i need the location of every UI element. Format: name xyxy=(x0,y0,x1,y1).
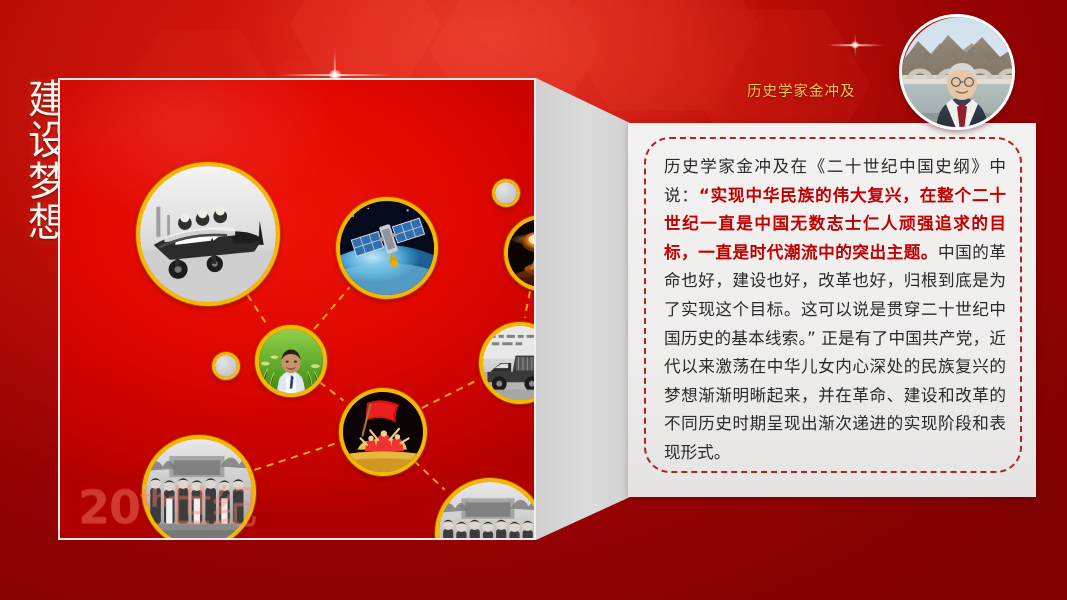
node-decor-dot-left[interactable] xyxy=(212,352,240,380)
node-nuclear-test-photo-image xyxy=(508,219,536,287)
watermark-chinese: 世纪 xyxy=(167,480,257,534)
century-watermark: 20th世纪 xyxy=(78,484,257,530)
node-group-photo-right[interactable] xyxy=(435,478,536,540)
node-satellite-photo[interactable] xyxy=(336,197,438,299)
node-scientist-photo[interactable] xyxy=(255,325,327,397)
node-flag-dance-photo-image xyxy=(343,392,423,472)
portrait-caption: 历史学家金冲及 xyxy=(747,80,856,101)
decor-dot-fill xyxy=(495,182,517,204)
historian-portrait-avatar xyxy=(899,14,1015,130)
portrait-image xyxy=(902,17,1015,130)
connector-line-group-left-flagdance xyxy=(254,443,336,470)
lens-flare-tiny xyxy=(810,10,900,80)
quote-segment-2: 中国的革命也好，建设也好，改革也好，归根到底是为了实现这个目标。这可以说是贯穿二… xyxy=(664,243,1006,462)
connector-line-nuclear-truck xyxy=(525,291,530,317)
node-satellite-photo-image xyxy=(340,201,434,295)
perspective-connector xyxy=(536,60,640,550)
node-flag-dance-photo[interactable] xyxy=(339,388,427,476)
connector-line-scientist-flagdance xyxy=(320,382,344,400)
node-truck-photo-image xyxy=(483,326,536,400)
quote-text: 历史学家金冲及在《二十世纪中国史纲》中说：“实现中华民族的伟大复兴，在整个二十世… xyxy=(664,153,1006,468)
node-scientist-photo-image xyxy=(259,329,323,393)
node-truck-photo[interactable] xyxy=(479,322,536,404)
node-group-photo-right-image xyxy=(439,482,536,540)
watermark-superscript: th xyxy=(140,485,167,513)
watermark-number: 20 xyxy=(78,480,140,534)
decor-dot-fill xyxy=(215,355,237,377)
collage-panel: 20th世纪 xyxy=(58,78,536,540)
node-aircraft-photo[interactable] xyxy=(136,162,280,306)
node-nuclear-test-photo[interactable] xyxy=(504,215,536,291)
node-decor-dot-top[interactable] xyxy=(492,179,520,207)
node-aircraft-photo-image xyxy=(140,166,276,302)
quote-panel: 历史学家金冲及在《二十世纪中国史纲》中说：“实现中华民族的伟大复兴，在整个二十世… xyxy=(628,123,1036,497)
connector-line-flagdance-truck xyxy=(422,380,477,408)
slide-canvas: 建设梦想 20th世纪 历史学家金冲及在《二十世纪中国史纲》中说：“实现中华民族… xyxy=(0,0,1067,600)
